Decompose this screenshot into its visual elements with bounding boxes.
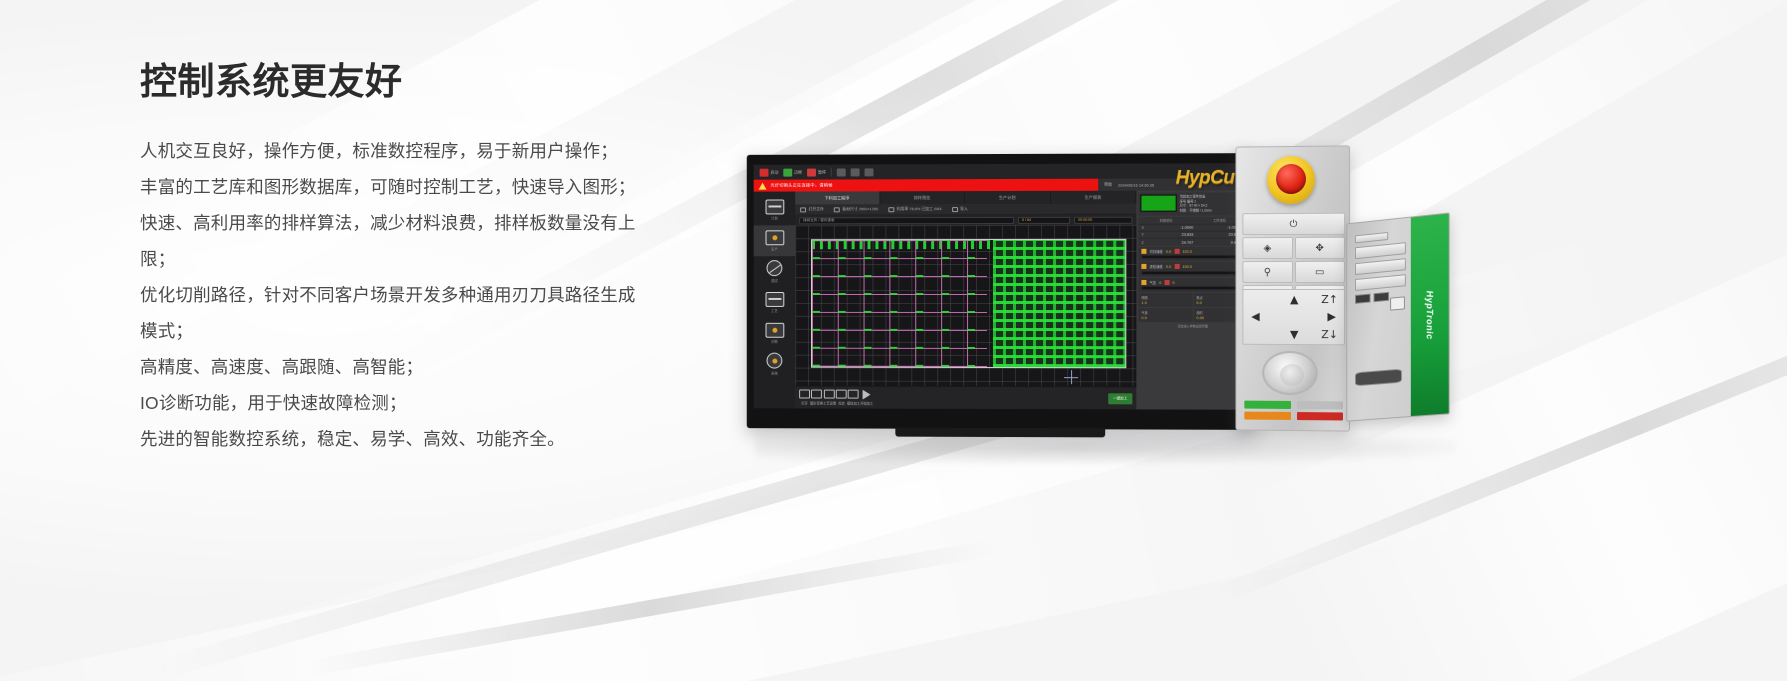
nav-label: 工艺 xyxy=(771,308,778,313)
help-label[interactable]: 帮助 xyxy=(1104,182,1112,188)
elapsed-time-field: 00:00:00 xyxy=(1074,216,1132,223)
stop-square-icon xyxy=(760,168,769,176)
alert-message: 光纤切割头正在连接中，请稍候 xyxy=(770,182,832,188)
import-icon xyxy=(952,207,958,212)
open-file-icon xyxy=(800,207,806,212)
gear-icon xyxy=(767,353,783,369)
hypcut-logo: HypCut xyxy=(1176,167,1241,189)
coord-header-machine: 机械坐标 xyxy=(1141,217,1190,222)
status-dot-icon xyxy=(1141,280,1146,285)
coordinate-table: 机械坐标 工件坐标 X -1.0000 -1.0000 Y xyxy=(1138,216,1247,245)
toolbar-label: 暂停 xyxy=(818,169,826,175)
play-icon xyxy=(863,389,871,399)
toolbar-button-pause[interactable]: 暂停 xyxy=(807,168,826,176)
hyptronic-logo: HypTronic xyxy=(1425,290,1435,340)
stat-cut-speed: 切割速度 0.0 102.0 xyxy=(1138,246,1247,261)
nav-item-diagnostics[interactable]: 诊断 xyxy=(754,318,796,349)
coordinate-row-z: Z 24.707 9.995 xyxy=(1138,238,1247,246)
dsub-connector xyxy=(1355,369,1402,387)
bottom-button-process[interactable]: 工艺设置 xyxy=(823,390,836,405)
bottom-label: 开始加工 xyxy=(860,401,873,406)
nav-item-debug[interactable]: 调试 xyxy=(754,256,796,287)
controller-brand-panel: HypTronic xyxy=(1411,214,1449,416)
feature-line: 优化切削路径，针对不同客户场景开发多种通用刃刀具路径生成 xyxy=(140,277,740,313)
nav-item-plan[interactable]: 计划 xyxy=(754,194,796,225)
toolchip-label: 导入 xyxy=(960,206,968,212)
coordinate-row-x: X -1.0000 -1.0000 xyxy=(1138,223,1247,231)
bottom-label: 图形变换 xyxy=(810,400,823,405)
status-led-row xyxy=(1244,401,1343,421)
feature-line: 人机交互良好，操作方便，标准数控程序，易于新用户操作； xyxy=(140,133,740,169)
nested-parts-left xyxy=(812,240,987,367)
feature-line: 先进的智能数控系统，稳定、易学、高效、功能齐全。 xyxy=(140,421,740,457)
hmi-toolbar-row: 打开文件 板材尺寸 2500×1250 利用率 78.6% 已加工 0/64 xyxy=(795,204,1136,216)
toolchip-label: 打开文件 xyxy=(809,206,824,212)
stat-value-2: 102.0 xyxy=(1182,248,1192,253)
port-io xyxy=(1355,232,1388,243)
pause-icon xyxy=(807,168,816,176)
product-photo: HypCut 启动 边框 xyxy=(735,140,1495,460)
nav-label: 诊断 xyxy=(771,339,778,344)
current-part-header: 当前加工零件信息 序号 编号 1 尺寸：87.40 × 54.2 材质：不锈钢 … xyxy=(1138,192,1247,215)
nav-item-process[interactable]: 工艺 xyxy=(754,287,796,318)
bottom-label: 工艺设置 xyxy=(823,400,836,405)
play-icon xyxy=(783,168,792,176)
status-dot-icon xyxy=(1174,248,1179,253)
emergency-stop-ring xyxy=(1267,156,1315,204)
port-ethernet-3 xyxy=(1355,274,1406,291)
toolbar-divider xyxy=(831,168,832,177)
open-icon xyxy=(799,390,810,399)
led-red[interactable] xyxy=(1296,412,1343,420)
crosshair-icon xyxy=(1064,370,1078,384)
toolchip-label: 板材尺寸 2500×1250 xyxy=(842,206,878,212)
cursor-icon[interactable] xyxy=(851,168,860,176)
bottom-button-open[interactable]: 打开 xyxy=(799,390,810,405)
toolchip-utilization[interactable]: 利用率 78.6% 已加工 0/64 xyxy=(888,206,941,212)
stat-progress-bar xyxy=(1141,255,1244,259)
clock-label: 2024/05/16 14:26:35 xyxy=(1118,182,1154,187)
port-ethernet-2 xyxy=(1355,258,1406,275)
crosshair-icon-key[interactable]: ✥ xyxy=(1294,237,1345,259)
nav-label: 系统 xyxy=(771,370,778,375)
status-dot-icon xyxy=(1141,249,1146,254)
usb-port-2 xyxy=(1373,292,1389,302)
toolbar-button-frame[interactable]: 边框 xyxy=(783,168,802,176)
tab-production-plan[interactable]: 生产计划 xyxy=(965,191,1050,204)
toolbar-label: 边框 xyxy=(794,169,802,175)
nesting-canvas[interactable] xyxy=(795,225,1136,387)
axis-label: Z xyxy=(1141,240,1150,244)
coordinate-row-y: Y 23.833 23.833 xyxy=(1138,231,1247,239)
feature-line: 快速、高利用率的排样算法，减少材料浪费，排样板数量没有上 xyxy=(140,205,740,241)
arrow-left-icon[interactable]: ◀ xyxy=(1251,310,1259,323)
feature-line: 模式； xyxy=(140,313,740,349)
warning-triangle-icon xyxy=(759,182,767,189)
z-up-icon[interactable]: Z↑ xyxy=(1321,293,1338,306)
toolbox-icon xyxy=(765,323,784,338)
nav-label: 生产 xyxy=(771,247,778,252)
grid-icon[interactable] xyxy=(837,168,846,176)
toolchip-label: 利用率 78.6% 已加工 0/64 xyxy=(897,206,942,212)
feature-line: 限； xyxy=(140,241,740,277)
nav-label: 调试 xyxy=(771,278,778,283)
sheet-outline xyxy=(811,239,1126,368)
bottom-label: 打开 xyxy=(801,400,808,405)
part-info-line: 尺寸：87.40 × 54.2 xyxy=(1180,204,1208,208)
toolchip-open-file[interactable]: 打开文件 xyxy=(800,206,824,212)
bottom-button-transform[interactable]: 图形变换 xyxy=(810,390,823,405)
folder-icon xyxy=(765,292,784,307)
tab-nc-program[interactable]: 下料加工程序 xyxy=(795,191,880,204)
tab-nest-preview[interactable]: 排样预览 xyxy=(880,191,965,204)
mini-stat-gas: 气体 0.0 xyxy=(1138,308,1192,322)
measure-icon[interactable] xyxy=(865,168,874,176)
sheet-icon xyxy=(834,207,840,212)
toolbar-label: 启动 xyxy=(770,169,778,175)
power-icon-key[interactable]: ⏻ xyxy=(1242,213,1345,235)
feature-line: IO诊断功能，用于快速故障检测； xyxy=(140,385,740,421)
led-gray[interactable] xyxy=(1296,401,1343,409)
axis-machine-value: -1.0000 xyxy=(1150,225,1197,229)
controller-ports xyxy=(1355,230,1406,304)
arrow-up-icon[interactable]: ▲ xyxy=(1290,293,1298,306)
monitor-stand xyxy=(895,428,1105,438)
stat-value-2: 0 xyxy=(1172,280,1174,285)
jog-wheel[interactable] xyxy=(1262,351,1318,395)
toolbar-button-start[interactable]: 启动 xyxy=(760,168,779,176)
stat-feed-speed: 进给速度 0.0 100.0 xyxy=(1138,262,1247,277)
bottom-label: 标定 xyxy=(838,400,845,405)
operator-panel: ⏻ ◈ ✥ ⚲ ▭ ➚ ▲ ▼ ◀ ▶ Z↑ Z↓ xyxy=(1235,145,1350,431)
page-title: 控制系统更友好 xyxy=(140,62,740,103)
hmi-bottom-bar: 打开 图形变换 工艺设置 xyxy=(795,386,1136,410)
hmi-input-row: 排样文件 / 零件清单 0 / 64 00:00:00 xyxy=(795,215,1136,226)
bottom-label: 模拟加工 xyxy=(847,400,860,405)
nav-label: 计划 xyxy=(771,216,778,221)
part-info-line: 材质：不锈钢 / 1.0mm xyxy=(1180,208,1212,212)
processed-count-field: 0 / 64 xyxy=(1018,216,1070,223)
hmi-status-panel: 当前加工零件信息 序号 编号 1 尺寸：87.40 × 54.2 材质：不锈钢 … xyxy=(1136,190,1249,409)
arrow-right-icon[interactable]: ▶ xyxy=(1327,310,1335,323)
stat-value: 0 xyxy=(1159,280,1161,285)
feature-line: 丰富的工艺库和图形数据库，可随时控制工艺，快速导入图形； xyxy=(140,169,740,205)
copy-block: 控制系统更友好 人机交互良好，操作方便，标准数控程序，易于新用户操作； 丰富的工… xyxy=(140,62,740,457)
stat-progress-bar xyxy=(1141,286,1244,290)
simulate-icon xyxy=(848,390,859,399)
mini-stat-grid: 喷嘴 1.0 焦点 5.0 气体 0.0 xyxy=(1138,293,1247,322)
axis-machine-value: 24.707 xyxy=(1150,240,1197,244)
bottom-button-simulate[interactable]: 模拟加工 xyxy=(847,390,860,405)
port-ethernet-1 xyxy=(1355,242,1406,259)
nested-parts-right xyxy=(993,240,1125,367)
stat-label: 气压 xyxy=(1149,280,1156,285)
calibrate-icon xyxy=(836,390,847,399)
hmi-tabbar: 下料加工程序 排样预览 生产计划 生产报表 xyxy=(795,191,1136,205)
panel-hint: 双击进入参数设置界面 xyxy=(1138,323,1247,329)
hmi-monitor: HypCut 启动 边框 xyxy=(747,153,1257,430)
hmi-nav-rail: 计划 生产 调试 工艺 xyxy=(754,192,796,409)
tab-production-report[interactable]: 生产报表 xyxy=(1051,191,1137,204)
feature-line: 高精度、高速度、高跟随、高智能； xyxy=(140,349,740,385)
mini-stat-nozzle: 喷嘴 1.0 xyxy=(1138,293,1192,307)
motion-controller: HypTronic xyxy=(1346,212,1449,421)
stat-value: 0.0 xyxy=(1166,249,1171,254)
stat-progress-bar xyxy=(1141,271,1244,275)
no-entry-icon xyxy=(767,260,783,276)
stat-gas-pressure: 气压 0 0 xyxy=(1138,278,1247,293)
stat-label: 进给速度 xyxy=(1149,264,1162,269)
jog-dpad: ▲ ▼ ◀ ▶ Z↑ Z↓ xyxy=(1242,289,1345,345)
mini-value: 0.0 xyxy=(1141,315,1189,320)
emergency-stop-button[interactable] xyxy=(1276,164,1306,194)
arrow-down-icon[interactable]: ▼ xyxy=(1290,328,1298,341)
nav-item-system[interactable]: 系统 xyxy=(754,349,796,380)
frame-icon-key[interactable]: ▭ xyxy=(1294,261,1345,283)
stat-label: 切割速度 xyxy=(1149,249,1162,254)
nozzle-icon-key[interactable]: ⚲ xyxy=(1242,261,1292,283)
mini-value: 1.0 xyxy=(1141,300,1189,305)
hmi-body: 计划 生产 调试 工艺 xyxy=(754,190,1250,409)
lamp-icon xyxy=(765,230,784,245)
usb-port-1 xyxy=(1355,294,1371,304)
stat-value-2: 100.0 xyxy=(1182,264,1192,269)
part-info: 当前加工零件信息 序号 编号 1 尺寸：87.40 × 54.2 材质：不锈钢 … xyxy=(1180,194,1212,213)
hmi-software: 启动 边框 暂停 xyxy=(754,163,1250,410)
laser-icon-key[interactable]: ◈ xyxy=(1242,237,1292,259)
toolchip-import[interactable]: 导入 xyxy=(952,206,968,212)
nav-item-production[interactable]: 生产 xyxy=(754,225,796,256)
axis-label: Y xyxy=(1141,233,1150,237)
status-dot-icon xyxy=(1174,264,1179,269)
axis-machine-value: 23.833 xyxy=(1150,233,1197,237)
one-key-cut-button[interactable]: 一键加工 xyxy=(1108,393,1133,404)
process-icon xyxy=(824,390,835,399)
bottom-button-start-cut[interactable]: 开始加工 xyxy=(860,389,873,405)
status-dot-icon xyxy=(1164,280,1169,285)
z-down-icon[interactable]: Z↓ xyxy=(1321,328,1338,341)
status-dot-icon xyxy=(1141,264,1146,269)
feature-list: 人机交互良好，操作方便，标准数控程序，易于新用户操作； 丰富的工艺库和图形数据库… xyxy=(140,133,740,457)
monitor-screen: 启动 边框 暂停 xyxy=(754,163,1250,410)
axis-label: X xyxy=(1141,226,1150,230)
part-info-title: 当前加工零件信息 xyxy=(1180,195,1206,199)
led-green[interactable] xyxy=(1244,401,1290,409)
bottom-button-calibrate[interactable]: 标定 xyxy=(836,390,847,405)
layout-icon xyxy=(765,199,784,214)
stat-value: 0.0 xyxy=(1166,264,1171,269)
transform-icon xyxy=(811,390,822,399)
toolchip-sheet-size[interactable]: 板材尺寸 2500×1250 xyxy=(834,206,878,212)
part-thumbnail xyxy=(1140,195,1176,212)
hmi-main-column: 下料加工程序 排样预览 生产计划 生产报表 打开文件 xyxy=(795,191,1136,410)
led-orange[interactable] xyxy=(1244,412,1290,420)
rj45-port xyxy=(1390,296,1405,310)
promo-page: 控制系统更友好 人机交互良好，操作方便，标准数控程序，易于新用户操作； 丰富的工… xyxy=(0,0,1787,681)
chart-icon xyxy=(888,207,894,212)
file-path-input[interactable]: 排样文件 / 零件清单 xyxy=(799,216,1014,223)
